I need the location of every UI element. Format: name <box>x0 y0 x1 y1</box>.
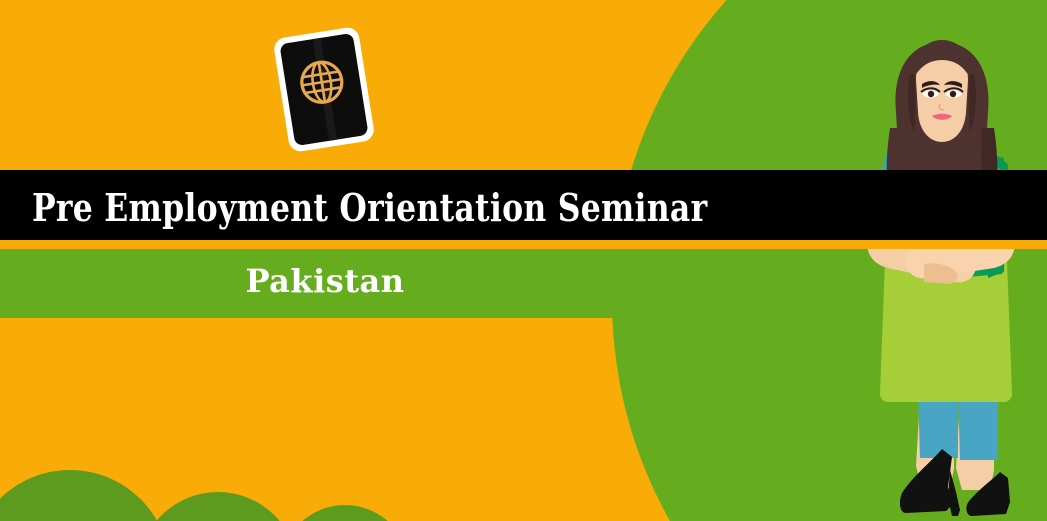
banner-subtitle: Pakistan <box>0 262 650 300</box>
woman-illustration <box>838 38 1047 521</box>
page-title: Pre Employment Orientation Seminar <box>32 180 731 235</box>
title-underline-strip <box>0 240 1047 249</box>
globe-icon <box>296 56 349 109</box>
passport-icon <box>273 26 376 153</box>
seminar-banner: Pre Employment Orientation Seminar Pakis… <box>0 0 1047 521</box>
